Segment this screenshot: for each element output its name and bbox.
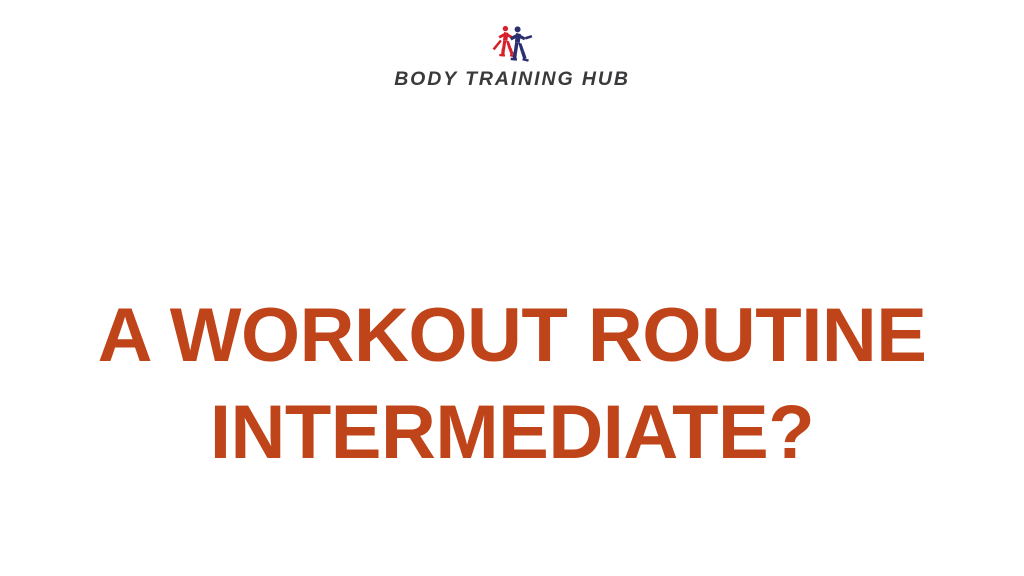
page-title-line-2: INTERMEDIATE? bbox=[0, 384, 1024, 481]
page-title: A WORKOUT ROUTINE INTERMEDIATE? bbox=[0, 287, 1024, 481]
two-runners-icon bbox=[490, 24, 534, 62]
brand-lockup: BODY TRAINING HUB bbox=[0, 24, 1024, 90]
slide-canvas: BODY TRAINING HUB A WORKOUT ROUTINE INTE… bbox=[0, 0, 1024, 576]
brand-name: BODY TRAINING HUB bbox=[394, 70, 630, 90]
page-title-line-1: A WORKOUT ROUTINE bbox=[0, 287, 1024, 384]
